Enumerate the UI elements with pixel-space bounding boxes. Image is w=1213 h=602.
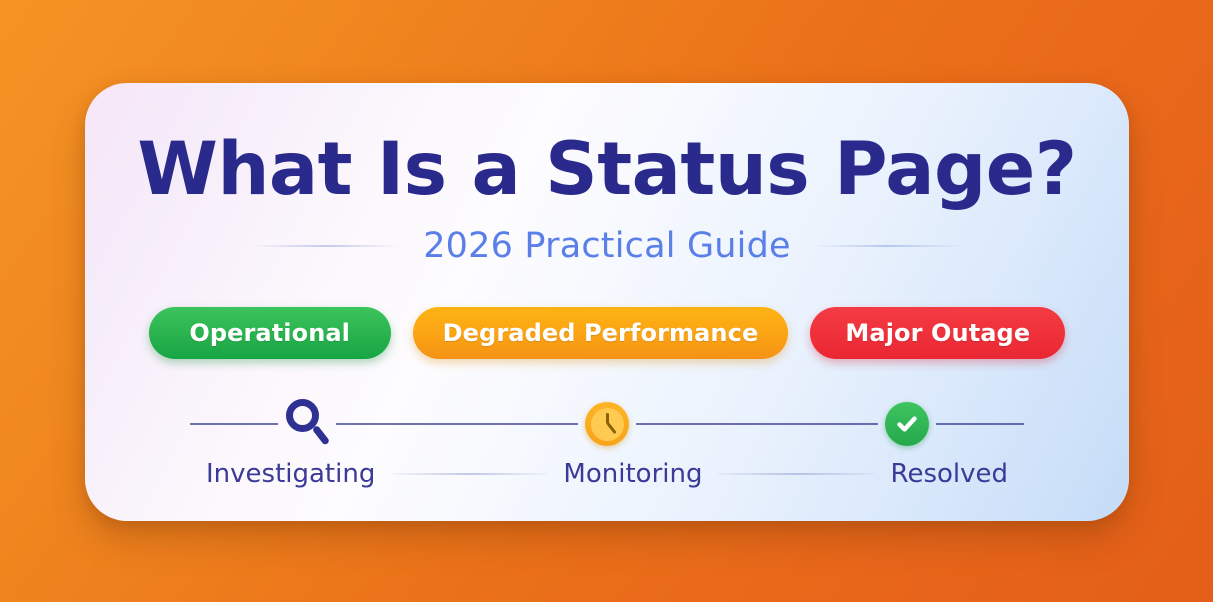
timeline-label-row: Investigating Monitoring Resolved [190,455,1024,493]
status-pill-group: Operational Degraded Performance Major O… [85,307,1129,359]
timeline-label-connector-1 [391,473,547,475]
page-subtitle: 2026 Practical Guide [423,226,791,266]
timeline-connector-end [936,423,1024,425]
magnifying-glass-icon [284,399,330,449]
timeline-icon-row [190,393,1024,455]
poster-canvas: What Is a Status Page? 2026 Practical Gu… [0,0,1213,602]
timeline-label-investigating: Investigating [206,459,375,489]
timeline-connector-start [190,423,278,425]
clock-hand-minute [606,422,616,434]
status-pill-operational[interactable]: Operational [149,307,391,359]
subtitle-rule-right [813,245,963,247]
check-circle-icon [885,402,929,446]
magnifier-handle [312,425,330,446]
timeline-connector-1 [336,423,578,425]
clock-icon [585,402,629,446]
timeline-label-connector-2 [718,473,874,475]
page-title: What Is a Status Page? [85,132,1129,208]
timeline-step-monitoring[interactable] [578,395,636,453]
clock-face [591,408,624,441]
status-pill-major-outage[interactable]: Major Outage [810,307,1065,359]
timeline-step-resolved[interactable] [878,395,936,453]
incident-timeline: Investigating Monitoring Resolved [190,393,1024,493]
status-pill-degraded-performance[interactable]: Degraded Performance [413,307,789,359]
timeline-label-resolved: Resolved [891,459,1008,489]
subtitle-row: 2026 Practical Guide [85,226,1129,266]
timeline-label-monitoring: Monitoring [563,459,702,489]
subtitle-rule-left [251,245,401,247]
timeline-step-investigating[interactable] [278,395,336,453]
timeline-connector-2 [636,423,878,425]
status-page-card: What Is a Status Page? 2026 Practical Gu… [85,83,1129,521]
